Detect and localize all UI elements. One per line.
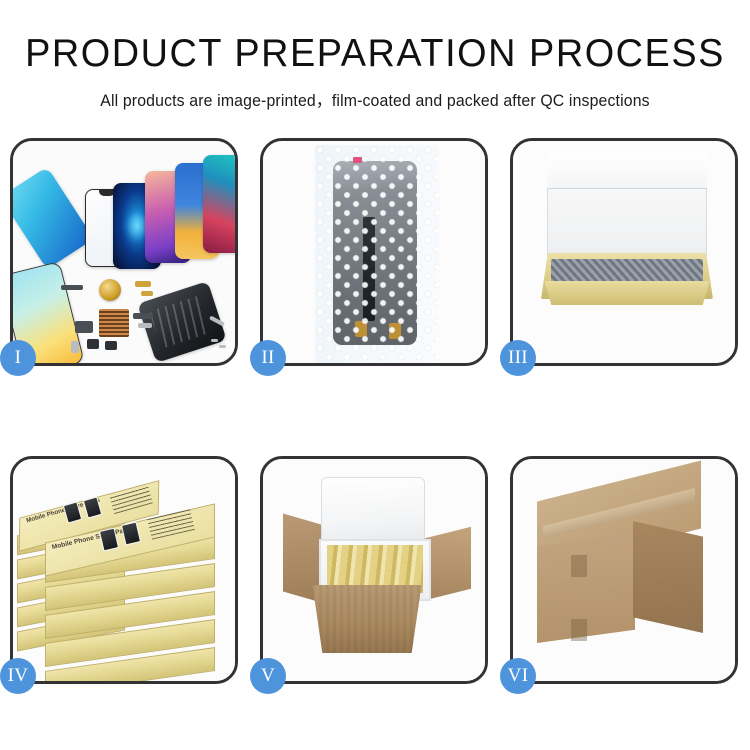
step-2-image bbox=[263, 141, 485, 363]
gold-contact-part bbox=[135, 281, 151, 287]
flex-cable-part bbox=[75, 321, 93, 333]
process-step-panel-2[interactable]: II bbox=[260, 138, 488, 366]
flex-cable-part bbox=[61, 285, 83, 290]
camera-module-part bbox=[87, 339, 99, 349]
phone-screen-red bbox=[203, 155, 235, 253]
screw-part bbox=[211, 339, 218, 342]
step-3-image bbox=[513, 141, 735, 363]
process-step-panel-3[interactable]: III bbox=[510, 138, 738, 366]
bubble-wrap-bag bbox=[315, 145, 439, 363]
process-step-panel-1[interactable]: I bbox=[10, 138, 238, 366]
screw-part bbox=[219, 345, 226, 348]
page-header: PRODUCT PREPARATION PROCESS All products… bbox=[0, 0, 750, 111]
kraft-box-stack: Mobile Phone Spare Parts Mobile Phone Sp… bbox=[17, 473, 235, 673]
process-step-panel-4[interactable]: Mobile Phone Spare Parts Mobile Phone Sp… bbox=[10, 456, 238, 684]
step-badge-4: IV bbox=[0, 658, 36, 694]
metal-bracket-part bbox=[138, 323, 152, 328]
carton-seam-tab bbox=[571, 619, 587, 641]
sim-tray-part bbox=[71, 341, 79, 353]
page-subtitle: All products are image-printed，film-coat… bbox=[15, 87, 735, 111]
connector-grid-part bbox=[99, 309, 129, 337]
step-badge-2: II bbox=[250, 340, 286, 376]
step-1-image bbox=[13, 141, 235, 363]
step-6-image bbox=[513, 459, 735, 681]
step-4-image: Mobile Phone Spare Parts Mobile Phone Sp… bbox=[13, 459, 235, 681]
step-badge-3: III bbox=[500, 340, 536, 376]
process-step-panel-5[interactable]: V bbox=[260, 456, 488, 684]
gold-contact-part bbox=[141, 291, 153, 296]
foam-lid bbox=[321, 477, 425, 547]
adhesive-sheet-image bbox=[13, 167, 94, 270]
kraft-box-front-edge bbox=[541, 281, 713, 305]
flex-cable-part bbox=[133, 313, 153, 319]
process-step-grid: I II III bbox=[10, 138, 740, 684]
button-part bbox=[105, 341, 117, 350]
carton-right-face bbox=[633, 521, 703, 633]
step-badge-6: VI bbox=[500, 658, 536, 694]
step-badge-5: V bbox=[250, 658, 286, 694]
bubble-texture bbox=[315, 145, 439, 363]
speaker-coil-part bbox=[99, 279, 121, 301]
step-badge-1: I bbox=[0, 340, 36, 376]
white-box-lid-flap bbox=[547, 153, 707, 189]
carton-body bbox=[305, 585, 429, 653]
step-5-image bbox=[263, 459, 485, 681]
process-step-panel-6[interactable]: VI bbox=[510, 456, 738, 684]
carton-seam-tab bbox=[571, 555, 587, 577]
page-title: PRODUCT PREPARATION PROCESS bbox=[11, 34, 739, 75]
